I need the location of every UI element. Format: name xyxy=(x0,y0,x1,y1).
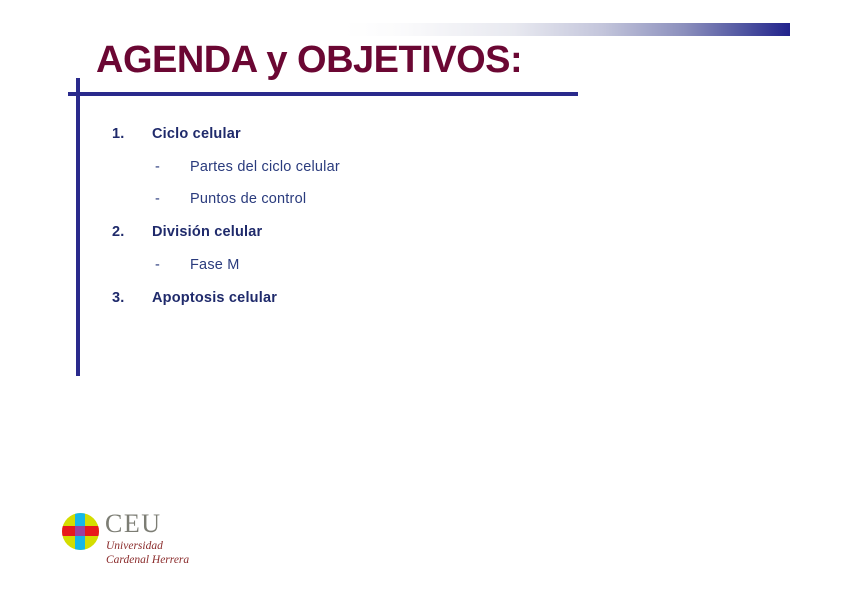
list-item-label: División celular xyxy=(152,224,262,240)
list-item-label: Ciclo celular xyxy=(152,126,241,142)
list-item-marker: 1. xyxy=(112,126,125,142)
logo-tagline-line2: Cardenal Herrera xyxy=(106,553,189,567)
logo-center-square xyxy=(75,526,85,536)
list-item-marker: - xyxy=(155,257,160,273)
page-title: AGENDA y OBJETIVOS: xyxy=(96,41,522,79)
list-item-marker: 2. xyxy=(112,224,125,240)
title-underline-rule xyxy=(68,92,578,96)
list-item-label: Fase M xyxy=(190,257,240,273)
list-item-label: Partes del ciclo celular xyxy=(190,159,340,175)
logo-wordmark: CEU xyxy=(105,511,162,537)
presentation-slide: AGENDA y OBJETIVOS: 1. Ciclo celular - P… xyxy=(0,0,848,599)
left-vertical-rule xyxy=(76,78,80,376)
logo-tagline: Universidad Cardenal Herrera xyxy=(106,539,189,568)
ceu-cross-circle-icon xyxy=(62,513,99,550)
list-item-marker: - xyxy=(155,159,160,175)
logo-tagline-line1: Universidad xyxy=(106,539,189,553)
list-item-marker: 3. xyxy=(112,290,125,306)
list-item-label: Puntos de control xyxy=(190,191,306,207)
ceu-logo: CEU Universidad Cardenal Herrera xyxy=(60,511,260,573)
list-item-marker: - xyxy=(155,191,160,207)
header-gradient-bar xyxy=(345,23,790,36)
list-item-label: Apoptosis celular xyxy=(152,290,277,306)
